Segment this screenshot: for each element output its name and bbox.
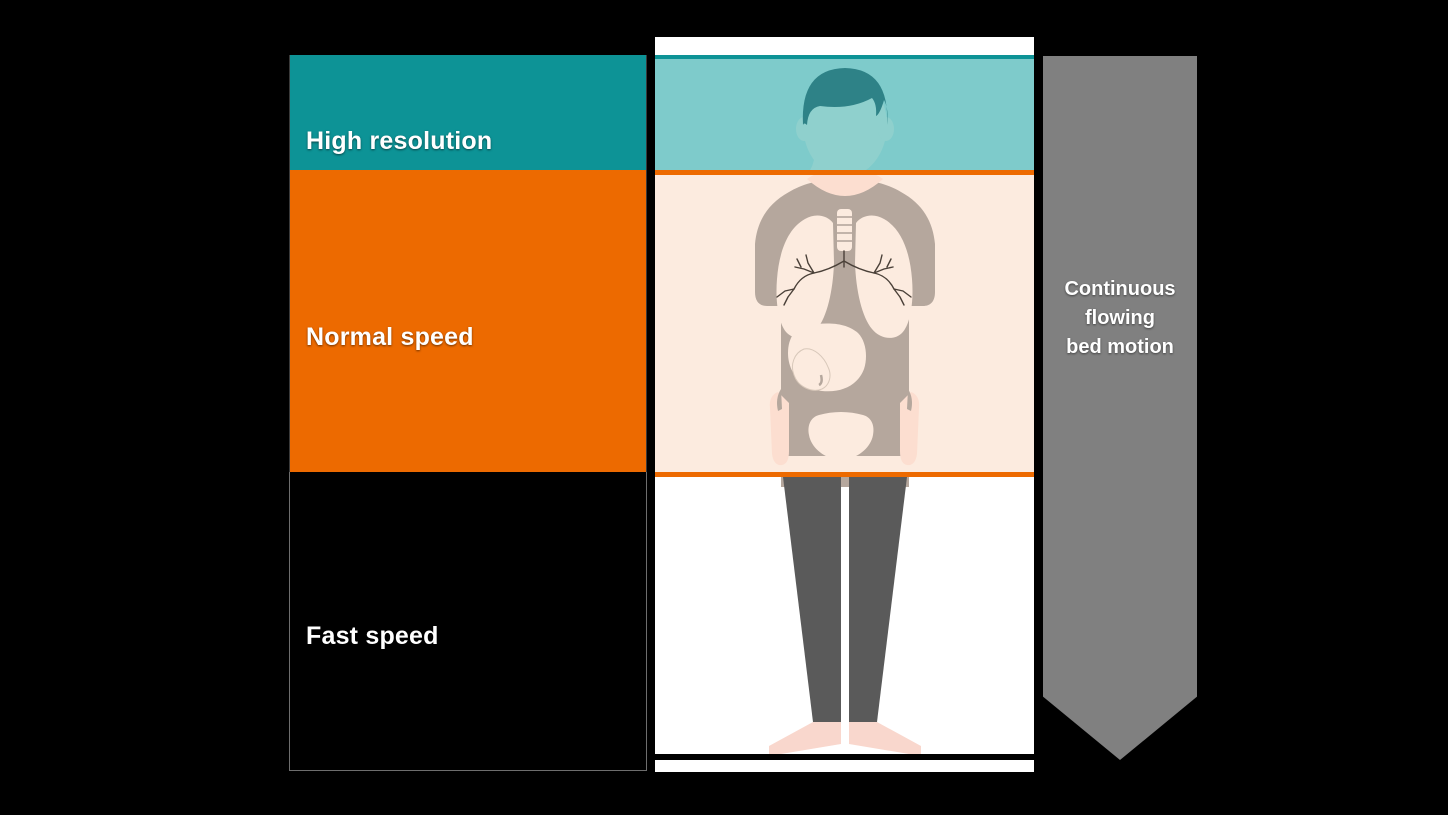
scan-band-legs <box>655 472 1034 754</box>
bed-strip-top <box>655 37 1034 55</box>
speed-block-label-normal-speed: Normal speed <box>306 291 474 352</box>
speed-block-fast-speed: Fast speed <box>289 472 647 771</box>
speed-block-normal-speed: Normal speed <box>289 170 647 472</box>
continuous-bed-motion-arrow: Continuous flowing bed motion <box>1043 56 1197 760</box>
scan-band-head <box>655 55 1034 170</box>
diagram-canvas: High resolution Normal speed Fast speed <box>0 0 1448 815</box>
arrow-label-line-1: Continuous <box>1043 275 1197 304</box>
speed-block-high-resolution: High resolution <box>289 55 647 170</box>
arrow-label-line-3: bed motion <box>1043 333 1197 362</box>
scan-band-torso <box>655 170 1034 472</box>
arrow-shape-down <box>1043 56 1197 760</box>
speed-block-label-high-resolution: High resolution <box>306 69 492 156</box>
scan-panel <box>655 37 1034 772</box>
speed-block-label-fast-speed: Fast speed <box>306 592 439 651</box>
arrow-label-line-2: flowing <box>1043 304 1197 333</box>
speed-label-column: High resolution Normal speed Fast speed <box>289 55 647 771</box>
arrow-label: Continuous flowing bed motion <box>1043 275 1197 362</box>
bed-strip-bottom <box>655 760 1034 772</box>
